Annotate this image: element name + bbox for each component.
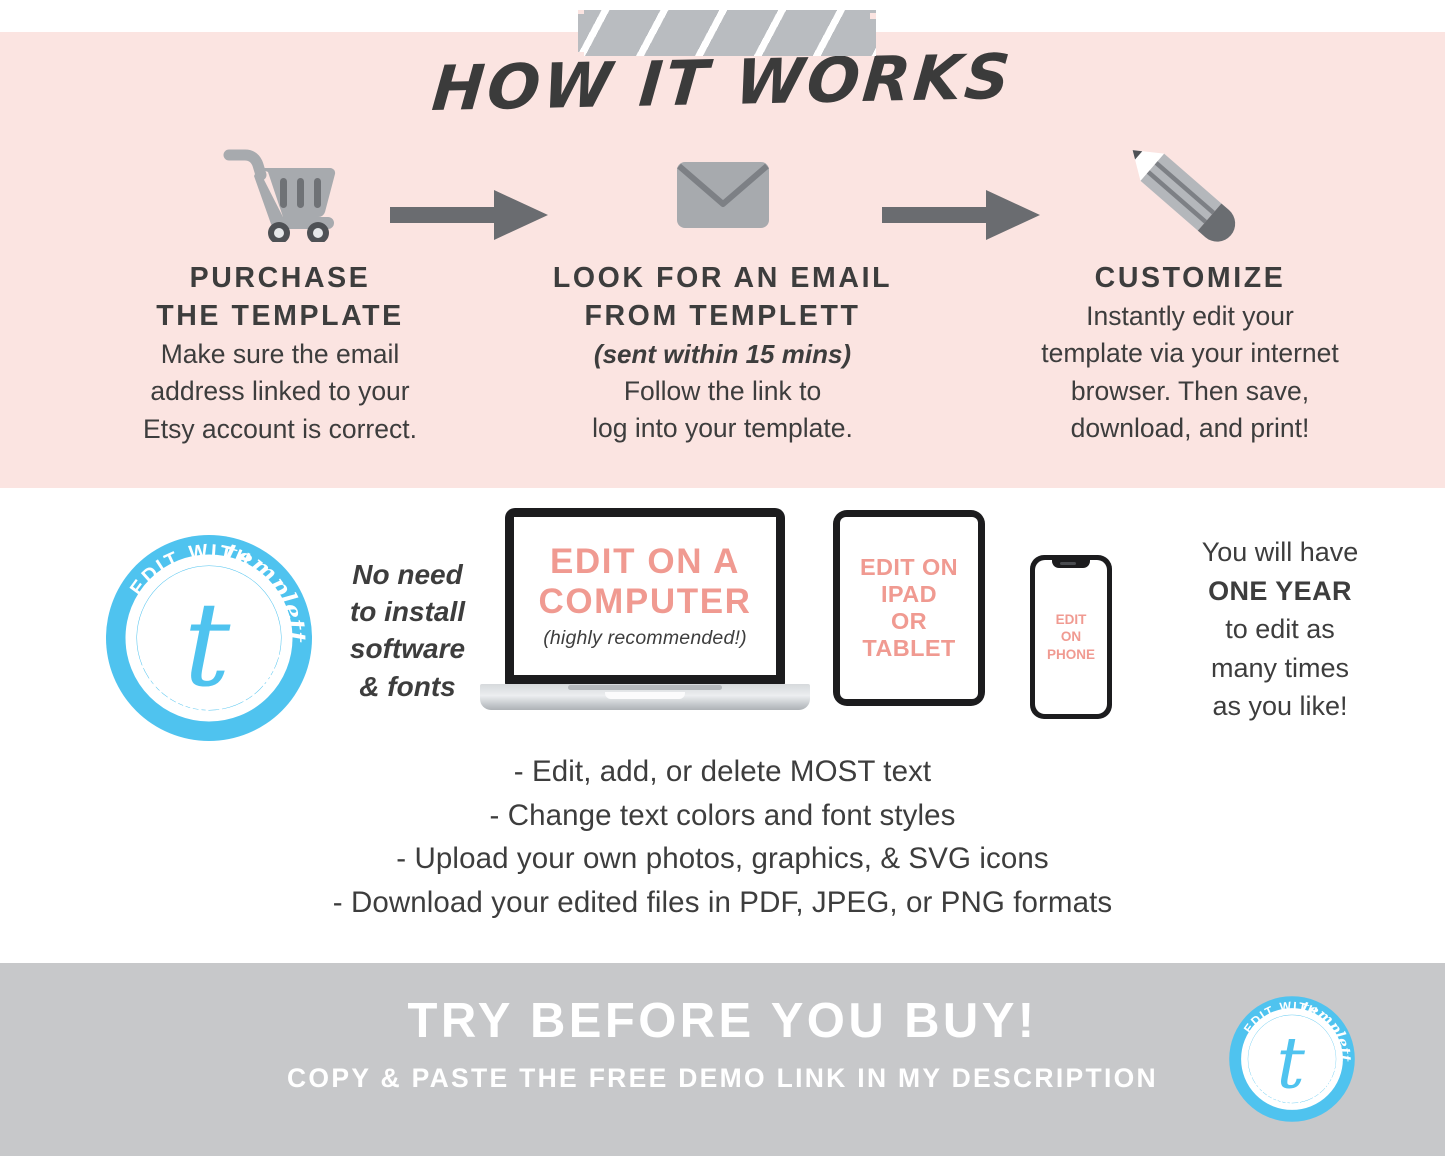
templett-badge: EDIT WITH templett EDITABLE TEMPLATE t [1228,995,1356,1123]
step-1-body: Make sure the email address linked to yo… [60,336,500,448]
svg-text:t: t [1277,1022,1306,1105]
templett-badge: EDIT WITH templett EDITABLE TEMPLATE t [104,533,314,743]
feature-list: - Edit, add, or delete MOST text - Chang… [0,750,1445,925]
phone-notch [1052,559,1090,568]
svg-text:t: t [184,578,231,713]
features-section: EDIT WITH templett EDITABLE TEMPLATE t N… [0,488,1445,963]
step-2-italic-note: (sent within 15 mins) [490,336,955,373]
laptop-mockup: EDIT ON A COMPUTER (highly recommended!) [480,508,810,713]
one-year-editing-text: You will have ONE YEAR to edit as many t… [1135,533,1425,726]
list-item: - Change text colors and font styles [0,794,1445,838]
laptop-screen: EDIT ON A COMPUTER (highly recommended!) [514,517,776,675]
arrow-right-icon [390,188,550,242]
one-year-line4: many times [1135,649,1425,688]
one-year-line5: as you like! [1135,687,1425,726]
no-need-to-install-text: No need to install software & fonts [330,556,485,705]
washi-tape-decoration [578,10,876,56]
shopping-cart-icon [221,142,339,242]
phone-mockup: EDIT ON PHONE [1030,555,1112,719]
washi-tape-right-edge [870,10,876,56]
laptop-text-line3: (highly recommended!) [543,627,747,650]
one-year-line1: You will have [1135,533,1425,572]
laptop-base [480,684,810,710]
one-year-strong: ONE YEAR [1135,572,1425,611]
list-item: - Download your edited files in PDF, JPE… [0,881,1445,925]
step-2-body: Follow the link to log into your templat… [490,373,955,448]
step-purchase: PURCHASE THE TEMPLATE Make sure the emai… [60,140,500,448]
arrow-right-icon [882,188,1042,242]
tablet-screen-text: EDIT ON IPAD OR TABLET [840,517,978,699]
tablet-frame: EDIT ON IPAD OR TABLET [833,510,985,706]
step-3-heading: CUSTOMIZE [955,260,1425,298]
tablet-mockup: EDIT ON IPAD OR TABLET [833,510,985,706]
list-item: - Edit, add, or delete MOST text [0,750,1445,794]
laptop-text-line1: EDIT ON A [550,542,740,581]
phone-screen-text: EDIT ON PHONE [1035,560,1107,714]
phone-frame: EDIT ON PHONE [1030,555,1112,719]
step-1-heading: PURCHASE THE TEMPLATE [60,260,500,336]
laptop-text-line2: COMPUTER [538,582,751,621]
laptop-lid: EDIT ON A COMPUTER (highly recommended!) [505,508,785,686]
laptop-trackpad-notch [605,692,685,699]
step-3-body: Instantly edit your template via your in… [955,298,1425,447]
list-item: - Upload your own photos, graphics, & SV… [0,837,1445,881]
one-year-line3: to edit as [1135,610,1425,649]
step-customize: CUSTOMIZE Instantly edit your template v… [955,140,1425,447]
washi-tape-stripes [578,10,876,56]
step-2-heading: LOOK FOR AN EMAIL FROM TEMPLETT [490,260,955,336]
envelope-icon [677,162,769,228]
laptop-hinge [568,685,722,690]
step-look-for-email: LOOK FOR AN EMAIL FROM TEMPLETT (sent wi… [490,140,955,447]
washi-tape-left-edge [578,10,584,56]
pencil-icon [1130,148,1250,252]
